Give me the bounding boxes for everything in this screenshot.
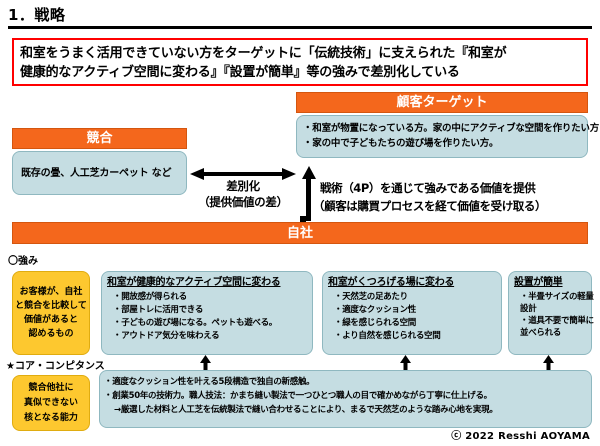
strength-box-1-item-1: ・開放感が得られる (107, 291, 307, 304)
competitor-box: 既存の畳、人工芝カーペット など (12, 151, 187, 195)
page-title: 1．戦略 (8, 4, 65, 25)
statement-line-2: 健康的なアクティブ空間に変わる』『設置が簡単』等の強みで差別化している (20, 63, 580, 82)
strength-box-2-item-1: ・天然芝の足あたり (328, 291, 496, 304)
strength-box-easy-install: 設置が簡単 ・半畳サイズの軽量 設計 ・道具不要で簡単に 並べられる (508, 271, 592, 355)
differentiation-caption-2: （提供価値の差） (180, 194, 306, 210)
core-competence-line-1: ・適度なクッション性を叶える5段構造で独自の新感触。 (104, 375, 587, 389)
differentiation-caption-1: 差別化 (190, 178, 296, 194)
own-company-header: 自社 (12, 222, 588, 244)
strength-box-3-heading: 設置が簡単 (514, 276, 586, 290)
customer-target-header: 顧客ターゲット (296, 92, 588, 113)
differentiation-arrow (190, 165, 296, 177)
customer-target-line-2: ・家の中で子どもたちの遊び場を作りたい方。 (303, 136, 587, 151)
strength-section-label: 〇強み (8, 252, 38, 267)
core-competence-line-2: ・創業50年の技術力。職人技法：かまち縫い製法で一つひとつ職人の目で確かめながら… (104, 389, 587, 403)
tactics-line-1: 戦術（4P）を通じて強みである価値を提供 (320, 180, 535, 196)
strength-box-3-item-2: 設計 (514, 303, 586, 315)
customer-target-line-1: ・和室が物置になっている方。家の中にアクティブな空間を作りたい方 (303, 121, 587, 136)
strength-box-3-item-3: ・道具不要で簡単に (514, 315, 586, 327)
strength-box-relax-space: 和室がくつろげる場に変わる ・天然芝の足あたり ・適度なクッション性 ・緑を感じ… (322, 271, 502, 355)
core-competence-line-3: →厳選した材料と人工芝を伝統製法で縫い合わせることにより、まるで天然芝のような踏… (104, 403, 587, 417)
connector-arrow-icon-1 (200, 355, 211, 371)
strength-box-1-item-2: ・部屋トレに活用できる (107, 304, 307, 317)
strength-box-1-item-4: ・アウトドア気分を味わえる (107, 330, 307, 343)
core-competence-section-label: ★コア・コンピタンス (6, 357, 105, 372)
core-definition-line-1: 競合他社に (28, 381, 73, 396)
competitor-header: 競合 (12, 128, 187, 149)
connector-arrow-icon-2 (400, 355, 411, 371)
customer-target-box: ・和室が物置になっている方。家の中にアクティブな空間を作りたい方 ・家の中で子ど… (296, 115, 588, 158)
strength-box-1-item-3: ・子どもの遊び場になる。ペットも遊べる。 (107, 317, 307, 330)
core-competence-definition-box: 競合他社に 真似できない 核となる能力 (12, 375, 90, 431)
tactics-line-2: （顧客は購買プロセスを経て価値を受け取る） (313, 198, 546, 214)
core-definition-line-3: 核となる能力 (24, 411, 78, 426)
strategy-statement-box: 和室をうまく活用できていない方をターゲットに「伝統技術」に支えられた『和室が 健… (12, 38, 588, 86)
strength-definition-line-3: 価値があると (24, 313, 78, 327)
copyright-footer: ⓒ 2022 Resshi AOYAMA (451, 427, 590, 442)
strength-definition-line-2: と競合を比較して (15, 299, 87, 313)
competitor-line: 既存の畳、人工芝カーペット など (13, 152, 186, 196)
strength-definition-line-1: お客様が、自社 (20, 285, 83, 299)
connector-arrow-icon-3 (543, 355, 554, 371)
strength-box-1-heading: 和室が健康的なアクティブ空間に変わる (107, 276, 307, 290)
slide-canvas: 1．戦略 和室をうまく活用できていない方をターゲットに「伝統技術」に支えられた『… (0, 0, 600, 446)
strength-box-2-heading: 和室がくつろげる場に変わる (328, 276, 496, 290)
core-competence-box: ・適度なクッション性を叶える5段構造で独自の新感触。 ・創業50年の技術力。職人… (99, 370, 592, 428)
strength-box-2-item-2: ・適度なクッション性 (328, 304, 496, 317)
strength-definition-box: お客様が、自社 と競合を比較して 価値があると 認めるもの (12, 271, 90, 355)
title-divider (8, 26, 592, 29)
strength-definition-line-4: 認めるもの (28, 327, 73, 341)
core-definition-line-2: 真似できない (24, 396, 78, 411)
strength-box-active-space: 和室が健康的なアクティブ空間に変わる ・開放感が得られる ・部屋トレに活用できる… (101, 271, 313, 355)
strength-box-2-item-3: ・緑を感じられる空間 (328, 317, 496, 330)
strength-box-3-item-4: 並べられる (514, 327, 586, 339)
statement-line-1: 和室をうまく活用できていない方をターゲットに「伝統技術」に支えられた『和室が (20, 44, 580, 63)
strength-box-2-item-4: ・より自然を感じられる空間 (328, 330, 496, 343)
strength-box-3-item-1: ・半畳サイズの軽量 (514, 291, 586, 303)
